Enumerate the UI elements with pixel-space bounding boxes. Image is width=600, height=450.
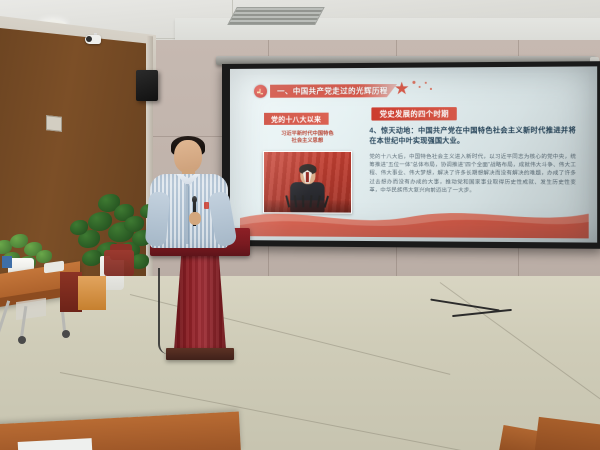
slide-title-plate: 一、中国共产党走过的光辉历程	[270, 84, 397, 98]
camera-lens	[86, 36, 92, 42]
podium-column	[174, 254, 226, 350]
slide-title-bar: 一、中国共产党走过的光辉历程	[254, 84, 397, 98]
presenter-shirt-placket	[186, 184, 189, 244]
table-caster	[62, 330, 70, 338]
floor-seam	[440, 282, 600, 400]
left-panel-badge: 党的十八大以来	[264, 113, 328, 125]
left-panel-badge-text: 党的十八大以来	[271, 114, 321, 124]
slide: 一、中国共产党走过的光辉历程 ★ 党史发展的四个时期	[230, 66, 597, 242]
table-caster	[18, 336, 26, 344]
wall-switch-plate[interactable]	[46, 115, 62, 132]
slide-lead-paragraph: 4、惊天动地：中国共产党在中国特色社会主义新时代推进并将在本世纪中叶实现强国大业…	[369, 126, 576, 147]
presenter-hand	[189, 212, 201, 225]
slide-body-paragraph: 党的十八大后，中国特色社会主义进入新时代，以习近平同志为核心的党中央，统筹推进“…	[369, 153, 576, 195]
red-star-icon: ★	[394, 80, 414, 98]
slide-section-heading: 党史发展的四个时期	[371, 107, 457, 120]
party-emblem-icon	[254, 85, 267, 98]
projected-slide: 一、中国共产党走过的光辉历程 ★ 党史发展的四个时期	[230, 66, 597, 242]
storage-box-orange	[78, 276, 106, 310]
left-panel-subtitle-line2: 社会主义思想	[258, 138, 357, 145]
wall-speaker	[136, 70, 158, 101]
slide-title: 一、中国共产党走过的光辉历程	[277, 85, 388, 97]
photo-figure-tie	[306, 172, 309, 182]
podium: 东方科仪控股 OSIC HOLDINGS	[150, 228, 250, 376]
red-wave-decoration	[240, 194, 589, 238]
projection-screen: 一、中国共产党走过的光辉历程 ★ 党史发展的四个时期	[222, 61, 600, 249]
slide-right-panel: 4、惊天动地：中国共产党在中国特色社会主义新时代推进并将在本世纪中叶实现强国大业…	[369, 126, 576, 195]
left-panel-subtitle: 习近平新时代中国特色 社会主义思想	[258, 131, 357, 145]
security-camera-icon	[85, 33, 104, 44]
section-heading-text: 党史发展的四个时期	[380, 109, 449, 119]
podium-base	[166, 348, 234, 360]
slide-inner: 一、中国共产党走过的光辉历程 ★ 党史发展的四个时期	[240, 73, 589, 239]
air-vent-icon	[227, 7, 325, 25]
desk-object-blue	[2, 256, 12, 268]
conference-room-scene: 一、中国共产党走过的光辉历程 ★ 党史发展的四个时期	[0, 0, 600, 450]
chair[interactable]	[104, 250, 134, 276]
presenter	[148, 140, 232, 248]
podium-cable	[158, 268, 172, 354]
presenter-badge	[204, 202, 209, 209]
